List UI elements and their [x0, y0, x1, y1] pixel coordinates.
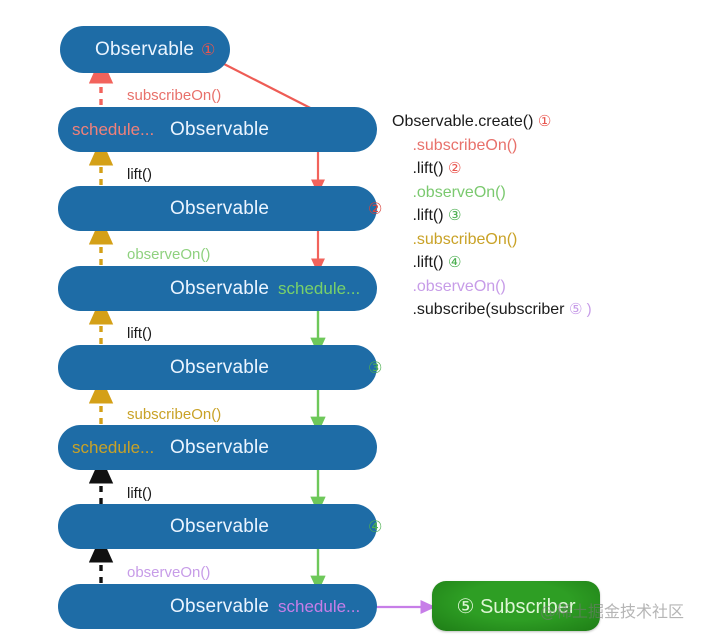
code-line: .lift() ② — [392, 157, 692, 181]
bar-label: Observable — [170, 596, 269, 618]
bar-label: Observable — [95, 39, 194, 61]
code-line: .observeOn() — [392, 181, 692, 205]
bar-number: ③ — [368, 358, 382, 378]
code-line: .lift() ④ — [392, 251, 692, 275]
operator-label-subscribeon-1: subscribeOn() — [127, 87, 221, 104]
bar-label: Observable — [170, 198, 269, 220]
code-mark: ③ — [448, 207, 461, 224]
code-line: .lift() ③ — [392, 204, 692, 228]
bar-scheduler-label: schedule... — [278, 597, 360, 617]
operator-label-lift-2: lift() — [127, 325, 152, 342]
operator-label-observeon-2: observeOn() — [127, 564, 210, 581]
bar-label: Observable — [170, 119, 269, 141]
observable-bar-6[interactable]: schedule... Observable — [58, 425, 377, 470]
code-line: Observable.create() ① — [392, 110, 692, 134]
code-text: Observable.create() — [392, 113, 533, 130]
diagram-canvas: Observable ① schedule... Observable Obse… — [0, 0, 710, 638]
bar-label: Observable — [170, 278, 269, 300]
bar-label: Observable — [170, 437, 269, 459]
watermark: @稀土掘金技术社区 — [540, 598, 684, 622]
code-text: .subscribeOn() — [412, 231, 517, 248]
observable-bar-3[interactable]: Observable ② — [58, 186, 377, 231]
bar-scheduler-label: schedule... — [72, 120, 154, 140]
code-mark: ② — [448, 160, 461, 177]
code-mark: ① — [538, 113, 551, 130]
code-text: .subscribe(subscriber — [412, 301, 564, 318]
code-line: .subscribeOn() — [392, 134, 692, 158]
code-block: Observable.create() ① .subscribeOn() .li… — [392, 110, 692, 322]
code-mark: ⑤ ) — [569, 301, 592, 318]
observable-bar-2[interactable]: schedule... Observable — [58, 107, 377, 152]
code-line: .subscribe(subscriber ⑤ ) — [392, 298, 692, 322]
code-line: .subscribeOn() — [392, 228, 692, 252]
code-mark: ④ — [448, 254, 461, 271]
code-line: .observeOn() — [392, 275, 692, 299]
operator-label-subscribeon-2: subscribeOn() — [127, 406, 221, 423]
observable-bar-5[interactable]: Observable ③ — [58, 345, 377, 390]
bar-number: ① — [201, 40, 215, 60]
observable-bar-4[interactable]: Observable schedule... — [58, 266, 377, 311]
observable-bar-8[interactable]: Observable schedule... — [58, 584, 377, 629]
code-text: .lift() — [412, 160, 443, 177]
code-text: .lift() — [412, 254, 443, 271]
code-text: .subscribeOn() — [412, 137, 517, 154]
code-text: .lift() — [412, 207, 443, 224]
bar-number: ② — [368, 199, 382, 219]
bar-scheduler-label: schedule... — [72, 438, 154, 458]
operator-label-observeon-1: observeOn() — [127, 246, 210, 263]
bar-scheduler-label: schedule... — [278, 279, 360, 299]
bar-label: Observable — [170, 357, 269, 379]
code-text: .observeOn() — [412, 184, 505, 201]
operator-label-lift-3: lift() — [127, 485, 152, 502]
observable-bar-1[interactable]: Observable ① — [60, 26, 230, 73]
bar-label: Observable — [170, 516, 269, 538]
code-text: .observeOn() — [412, 278, 505, 295]
bar-number: ④ — [368, 517, 382, 537]
observable-bar-7[interactable]: Observable ④ — [58, 504, 377, 549]
operator-label-lift-1: lift() — [127, 166, 152, 183]
